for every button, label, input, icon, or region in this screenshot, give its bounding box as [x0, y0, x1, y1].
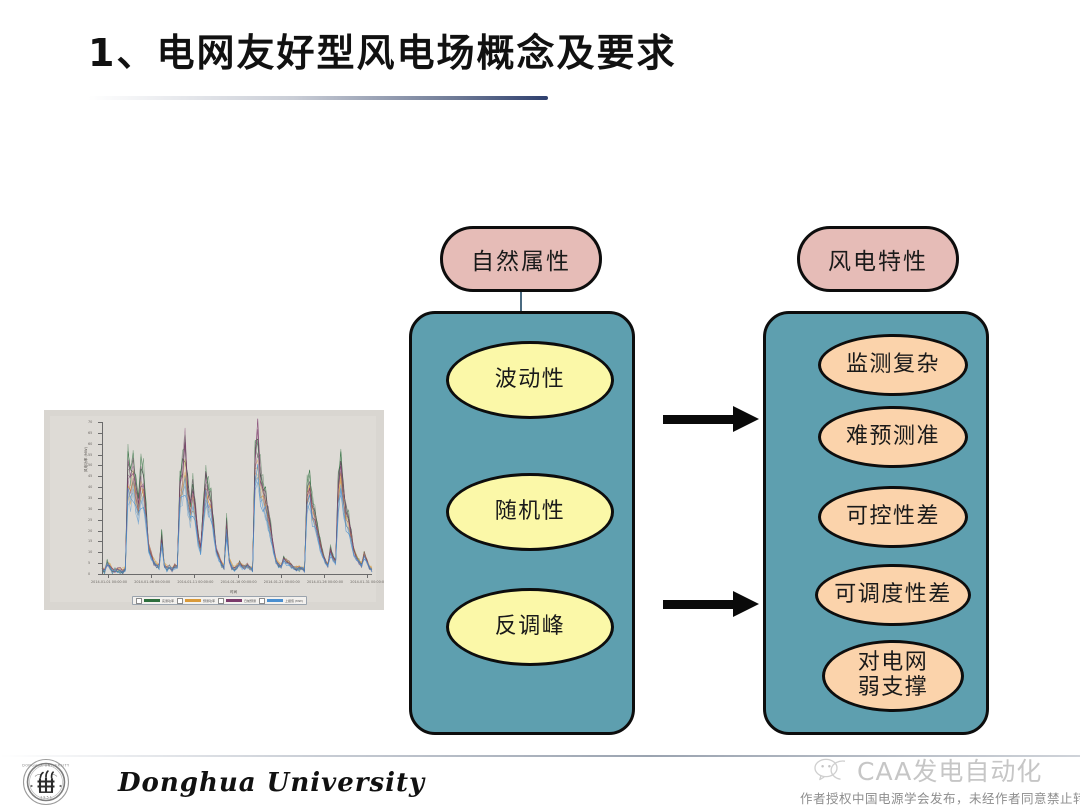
bubble-monitoring-complex-label: 监测复杂 [846, 353, 940, 378]
bubble-weak-grid-support-label-line1: 对电网 [858, 651, 929, 676]
chart-legend-swatch [226, 599, 242, 602]
chart-x-tick-label: 2014-01-31 00:00:00 [350, 580, 384, 584]
chart-legend: 实测功率预测功率日前预测上报值 (MW) [132, 596, 307, 605]
bubble-poor-dispatchability: 可调度性差 [815, 564, 971, 626]
wechat-icon [812, 757, 850, 783]
group-header-right-label: 风电特性 [828, 242, 928, 276]
chart-legend-checkbox[interactable] [218, 598, 224, 604]
bubble-randomness: 随机性 [446, 473, 614, 551]
chart-y-tick [98, 455, 103, 456]
chart-y-tick [98, 487, 103, 488]
chart-legend-item[interactable]: 日前预测 [218, 598, 256, 604]
chart-x-tick-label: 2014-01-11 00:00:00 [177, 580, 213, 584]
chart-y-tick [98, 476, 103, 477]
chart-x-tick-label: 2014-01-16 00:00:00 [221, 580, 257, 584]
chart-y-tick-label: 0 [88, 572, 90, 576]
bubble-weak-grid-support: 对电网 弱支撑 [822, 640, 964, 712]
chart-x-tick [151, 574, 152, 578]
chart-y-tick-label: 30 [88, 507, 92, 511]
chart-y-tick [98, 509, 103, 510]
chart-x-tick [238, 574, 239, 578]
chart-y-tick-label: 20 [88, 529, 92, 533]
donghua-university-logo-icon: 1 9 5 1 DONGHUA UNIVERSITY [22, 758, 70, 806]
chart-x-tick-label: 2014-01-01 00:00:00 [91, 580, 127, 584]
group-header-wind-power-characteristics: 风电特性 [797, 226, 959, 292]
bubble-poor-controllability: 可控性差 [818, 486, 968, 548]
bubble-weak-grid-support-label-line2: 弱支撑 [858, 676, 929, 701]
chart-legend-item[interactable]: 实测功率 [136, 598, 174, 604]
chart-legend-item[interactable]: 上报值 (MW) [259, 598, 303, 604]
chart-y-tick [98, 574, 103, 575]
chart-x-tick-label: 2014-01-21 00:00:00 [264, 580, 300, 584]
wechat-watermark-text: CAA发电自动化 [857, 752, 1042, 788]
connector-left [520, 292, 522, 312]
chart-y-tick-label: 10 [88, 550, 92, 554]
chart-legend-label: 日前预测 [244, 599, 256, 603]
title-underline [88, 96, 548, 100]
chart-x-tick [324, 574, 325, 578]
chart-legend-swatch [267, 599, 283, 602]
chart-legend-label: 实测功率 [162, 599, 174, 603]
chart-y-tick [98, 444, 103, 445]
chart-x-tick-label: 2014-01-26 00:00:00 [307, 580, 343, 584]
bubble-volatility-label: 波动性 [495, 368, 566, 393]
chart-y-tick [98, 520, 103, 521]
university-name: Donghua University [118, 768, 425, 798]
chart-x-tick [281, 574, 282, 578]
bubble-hard-to-predict-label: 难预测准 [846, 425, 940, 450]
chart-y-tick [98, 563, 103, 564]
slide-canvas: 1、电网友好型风电场概念及要求 051015202530354045505560… [0, 0, 1080, 810]
svg-text:DONGHUA UNIVERSITY: DONGHUA UNIVERSITY [22, 763, 69, 767]
chart-x-axis-label: 时间 [230, 590, 237, 595]
chart-y-tick-label: 5 [88, 561, 90, 565]
chart-y-tick-label: 45 [88, 474, 92, 478]
chart-y-tick [98, 541, 103, 542]
wind-power-chart-thumbnail: 0510152025303540455055606570 2014-01-01 … [44, 410, 384, 610]
chart-y-tick [98, 433, 103, 434]
chart-y-tick [98, 531, 103, 532]
group-header-left-label: 自然属性 [471, 242, 571, 276]
chart-legend-checkbox[interactable] [177, 598, 183, 604]
chart-y-tick-label: 35 [88, 496, 92, 500]
chart-y-tick [98, 552, 103, 553]
chart-x-tick [194, 574, 195, 578]
chart-legend-swatch [144, 599, 160, 602]
chart-y-tick-label: 40 [88, 485, 92, 489]
bubble-poor-dispatchability-label: 可调度性差 [834, 583, 952, 608]
chart-y-tick-label: 25 [88, 518, 92, 522]
page-title: 1、电网友好型风电场概念及要求 [88, 22, 676, 77]
bubble-anti-peak-shaving: 反调峰 [446, 588, 614, 666]
chart-y-axis-label: 风电功率 (MW) [84, 412, 89, 472]
chart-y-tick [98, 498, 103, 499]
bubble-randomness-label: 随机性 [495, 500, 566, 525]
bubble-anti-peak-shaving-label: 反调峰 [495, 615, 566, 640]
copyright-notice: 作者授权中国电源学会发布，未经作者同意禁止转载 [800, 788, 1080, 807]
bubble-poor-controllability-label: 可控性差 [846, 505, 940, 530]
chart-legend-label: 预测功率 [203, 599, 215, 603]
bubble-hard-to-predict: 难预测准 [818, 406, 968, 468]
chart-legend-item[interactable]: 预测功率 [177, 598, 215, 604]
bubble-monitoring-complex: 监测复杂 [818, 334, 968, 396]
chart-legend-swatch [185, 599, 201, 602]
svg-text:1 9 5 1: 1 9 5 1 [40, 795, 52, 799]
chart-x-tick [108, 574, 109, 578]
chart-y-tick [98, 465, 103, 466]
chart-legend-checkbox[interactable] [136, 598, 142, 604]
chart-y-tick [98, 422, 103, 423]
chart-x-tick-label: 2014-01-06 00:00:00 [134, 580, 170, 584]
chart-y-tick-label: 15 [88, 539, 92, 543]
group-header-natural-attributes: 自然属性 [440, 226, 602, 292]
chart-legend-checkbox[interactable] [259, 598, 265, 604]
chart-legend-label: 上报值 (MW) [285, 599, 303, 603]
wechat-watermark: CAA发电自动化 [812, 752, 1042, 788]
bubble-volatility: 波动性 [446, 341, 614, 419]
chart-x-tick [367, 574, 368, 578]
